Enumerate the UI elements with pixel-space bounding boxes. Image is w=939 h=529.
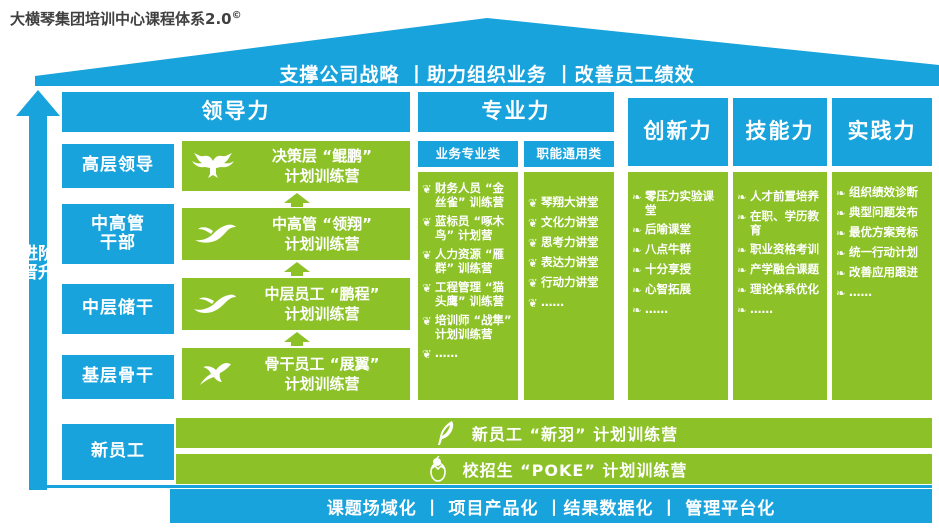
list-item[interactable]: ❦思考力讲堂 <box>528 235 609 250</box>
base-divider <box>36 485 932 488</box>
level-label-middle-reserve-cadre: 中层储干 <box>62 284 174 334</box>
bullet-flourish-icon: ❦ <box>528 235 541 250</box>
camp-line1: 骨干员工 “展翼” <box>265 355 380 373</box>
bar-new-employee-camp[interactable]: 新员工 “新羽” 计划训练营 <box>176 418 932 448</box>
up-arrow-icon-2 <box>284 262 310 276</box>
list-item[interactable]: ❦培训师 “战隼” 计划训练营 <box>422 313 513 341</box>
progression-arrow-icon <box>16 90 60 490</box>
bullet-flourish-icon: ❧ <box>737 302 750 317</box>
list-item[interactable]: ❧八点牛群 <box>632 242 723 257</box>
bar-campus-recruit-text: 校招生 “POKE” 计划训练营 <box>463 457 688 481</box>
bullet-flourish-icon: ❧ <box>632 242 645 257</box>
progression-label: 进阶晋升 <box>18 245 58 283</box>
copyright-mark: © <box>232 10 242 21</box>
top-banner-text: 支撑公司战略 丨助力组织业务 丨改善员工绩效 <box>35 60 939 87</box>
bullet-flourish-icon: ❧ <box>632 282 645 297</box>
hummingbird-icon <box>182 359 244 389</box>
level-label-middle-senior-cadre: 中高管 干部 <box>62 204 174 264</box>
list-item[interactable]: ❧…… <box>836 285 927 300</box>
camp-backbone-employee-text: 骨干员工 “展翼” 计划训练营 <box>244 354 410 394</box>
list-item[interactable]: ❧职业资格考训 <box>737 242 822 257</box>
bullet-flourish-icon: ❦ <box>422 313 435 328</box>
list-functional-general: ❦琴翔大讲堂 ❦文化力讲堂 ❦思考力讲堂 ❦表达力讲堂 ❦行动力讲堂 ❦…… <box>524 186 614 400</box>
bar-campus-recruit-camp[interactable]: 校招生 “POKE” 计划训练营 <box>176 454 932 484</box>
list-item[interactable]: ❧人才前置培养 <box>737 189 822 204</box>
bottom-banner: 课题场域化 丨 项目产品化 丨结果数据化 丨 管理平台化 <box>170 489 932 523</box>
camp-decision-layer[interactable]: 决策层 “鲲鹏” 计划训练营 <box>182 141 410 191</box>
bullet-flourish-icon: ❦ <box>422 181 435 196</box>
camp-line1: 中高管 “领翔” <box>272 215 372 233</box>
column-head-leadership: 领导力 <box>62 92 410 132</box>
list-item[interactable]: ❧最优方案竞标 <box>836 225 927 240</box>
camp-decision-layer-text: 决策层 “鲲鹏” 计划训练营 <box>244 146 410 186</box>
list-item[interactable]: ❧产学融合课题 <box>737 262 822 277</box>
list-item[interactable]: ❦…… <box>528 295 609 310</box>
up-arrow-icon-1 <box>284 193 310 207</box>
bullet-flourish-icon: ❧ <box>836 245 849 260</box>
sub-head-business-professional: 业务专业类 <box>418 141 518 167</box>
list-item[interactable]: ❦文化力讲堂 <box>528 215 609 230</box>
camp-middle-senior[interactable]: 中高管 “领翔” 计划训练营 <box>182 208 410 260</box>
list-item[interactable]: ❧改善应用跟进 <box>836 265 927 280</box>
list-item[interactable]: ❦财务人员 “金丝雀” 训练营 <box>422 181 513 209</box>
sub-head-functional-general: 职能通用类 <box>524 141 614 167</box>
list-item[interactable]: ❦蓝标员 “啄木鸟” 计划营 <box>422 214 513 242</box>
bullet-flourish-icon: ❦ <box>422 214 435 229</box>
camp-middle-employee-text: 中层员工 “鹏程” 计划训练营 <box>244 284 410 324</box>
camp-line2: 计划训练营 <box>284 305 359 323</box>
camp-middle-employee[interactable]: 中层员工 “鹏程” 计划训练营 <box>182 278 410 330</box>
bullet-flourish-icon: ❦ <box>528 215 541 230</box>
list-item[interactable]: ❧后喻课堂 <box>632 222 723 237</box>
column-head-innovation: 创新力 <box>628 98 728 166</box>
camp-middle-senior-text: 中高管 “领翔” 计划训练营 <box>244 214 410 254</box>
bullet-flourish-icon: ❦ <box>528 295 541 310</box>
column-head-skill: 技能力 <box>733 98 827 166</box>
hatching-chick-icon <box>421 456 455 482</box>
level-label-line2: 干部 <box>100 234 136 253</box>
bullet-flourish-icon: ❧ <box>737 242 750 257</box>
list-innovation: ❧零压力实验课堂 ❧后喻课堂 ❧八点牛群 ❧十分享授 ❧心智拓展 ❧…… <box>628 180 728 400</box>
list-skill: ❧人才前置培养 ❧在职、学历教育 ❧职业资格考训 ❧产学融合课题 ❧理论体系优化… <box>733 180 827 400</box>
column-head-practice: 实践力 <box>832 98 932 166</box>
feather-icon <box>430 420 464 446</box>
list-item[interactable]: ❧组织绩效诊断 <box>836 185 927 200</box>
flying-goose-icon <box>182 220 244 248</box>
list-practice: ❧组织绩效诊断 ❧典型问题发布 ❧最优方案竞标 ❧统一行动计划 ❧改善应用跟进 … <box>832 176 932 400</box>
bullet-flourish-icon: ❦ <box>528 195 541 210</box>
bullet-flourish-icon: ❦ <box>422 247 435 262</box>
bullet-flourish-icon: ❧ <box>836 265 849 280</box>
bullet-flourish-icon: ❧ <box>737 189 750 204</box>
list-item[interactable]: ❦琴翔大讲堂 <box>528 195 609 210</box>
bullet-flourish-icon: ❧ <box>632 302 645 317</box>
list-item[interactable]: ❧…… <box>737 302 822 317</box>
list-item[interactable]: ❧统一行动计划 <box>836 245 927 260</box>
level-label-senior-leader: 高层领导 <box>62 144 174 188</box>
bar-new-employee-text: 新员工 “新羽” 计划训练营 <box>472 421 678 445</box>
page-title: 大横琴集团培训中心课程体系2.0© <box>10 8 242 29</box>
level-label-new-employee: 新员工 <box>62 424 174 480</box>
bullet-flourish-icon: ❦ <box>422 280 435 295</box>
camp-line1: 中层员工 “鹏程” <box>265 285 380 303</box>
bullet-flourish-icon: ❦ <box>528 275 541 290</box>
list-item[interactable]: ❧十分享授 <box>632 262 723 277</box>
camp-line2: 计划训练营 <box>284 167 359 185</box>
level-label-frontline-backbone: 基层骨干 <box>62 355 174 399</box>
list-business-professional: ❦财务人员 “金丝雀” 训练营 ❦蓝标员 “啄木鸟” 计划营 ❦人力资源 “雁群… <box>418 172 518 400</box>
bullet-flourish-icon: ❦ <box>422 346 435 361</box>
camp-line2: 计划训练营 <box>284 375 359 393</box>
bullet-flourish-icon: ❧ <box>632 262 645 277</box>
list-item[interactable]: ❦工程管理 “猫头鹰” 训练营 <box>422 280 513 308</box>
camp-backbone-employee[interactable]: 骨干员工 “展翼” 计划训练营 <box>182 348 410 400</box>
up-arrow-icon-3 <box>284 332 310 346</box>
list-item[interactable]: ❦…… <box>422 346 513 361</box>
bullet-flourish-icon: ❧ <box>632 189 645 204</box>
list-item[interactable]: ❧…… <box>632 302 723 317</box>
list-item[interactable]: ❦人力资源 “雁群” 训练营 <box>422 247 513 275</box>
camp-line2: 计划训练营 <box>284 235 359 253</box>
bullet-flourish-icon: ❧ <box>836 185 849 200</box>
bullet-flourish-icon: ❧ <box>836 225 849 240</box>
list-item[interactable]: ❧典型问题发布 <box>836 205 927 220</box>
bullet-flourish-icon: ❧ <box>836 285 849 300</box>
bullet-flourish-icon: ❧ <box>737 262 750 277</box>
camp-line1: 决策层 “鲲鹏” <box>272 147 372 165</box>
list-item[interactable]: ❦行动力讲堂 <box>528 275 609 290</box>
page-title-text: 大横琴集团培训中心课程体系2.0 <box>10 10 232 28</box>
list-item[interactable]: ❧理论体系优化 <box>737 282 822 297</box>
bullet-flourish-icon: ❦ <box>528 255 541 270</box>
list-item[interactable]: ❧在职、学历教育 <box>737 209 822 237</box>
column-head-professional: 专业力 <box>418 92 614 132</box>
training-system-diagram: 大横琴集团培训中心课程体系2.0© 支撑公司战略 丨助力组织业务 丨改善员工绩效… <box>0 0 939 529</box>
bullet-flourish-icon: ❧ <box>737 209 750 224</box>
bullet-flourish-icon: ❧ <box>836 205 849 220</box>
flying-bird-icon <box>182 290 244 318</box>
bullet-flourish-icon: ❧ <box>632 222 645 237</box>
list-item[interactable]: ❧心智拓展 <box>632 282 723 297</box>
bullet-flourish-icon: ❧ <box>737 282 750 297</box>
level-label-line1: 中高管 <box>91 215 145 234</box>
eagle-icon <box>182 151 244 181</box>
list-item[interactable]: ❦表达力讲堂 <box>528 255 609 270</box>
list-item[interactable]: ❧零压力实验课堂 <box>632 189 723 217</box>
